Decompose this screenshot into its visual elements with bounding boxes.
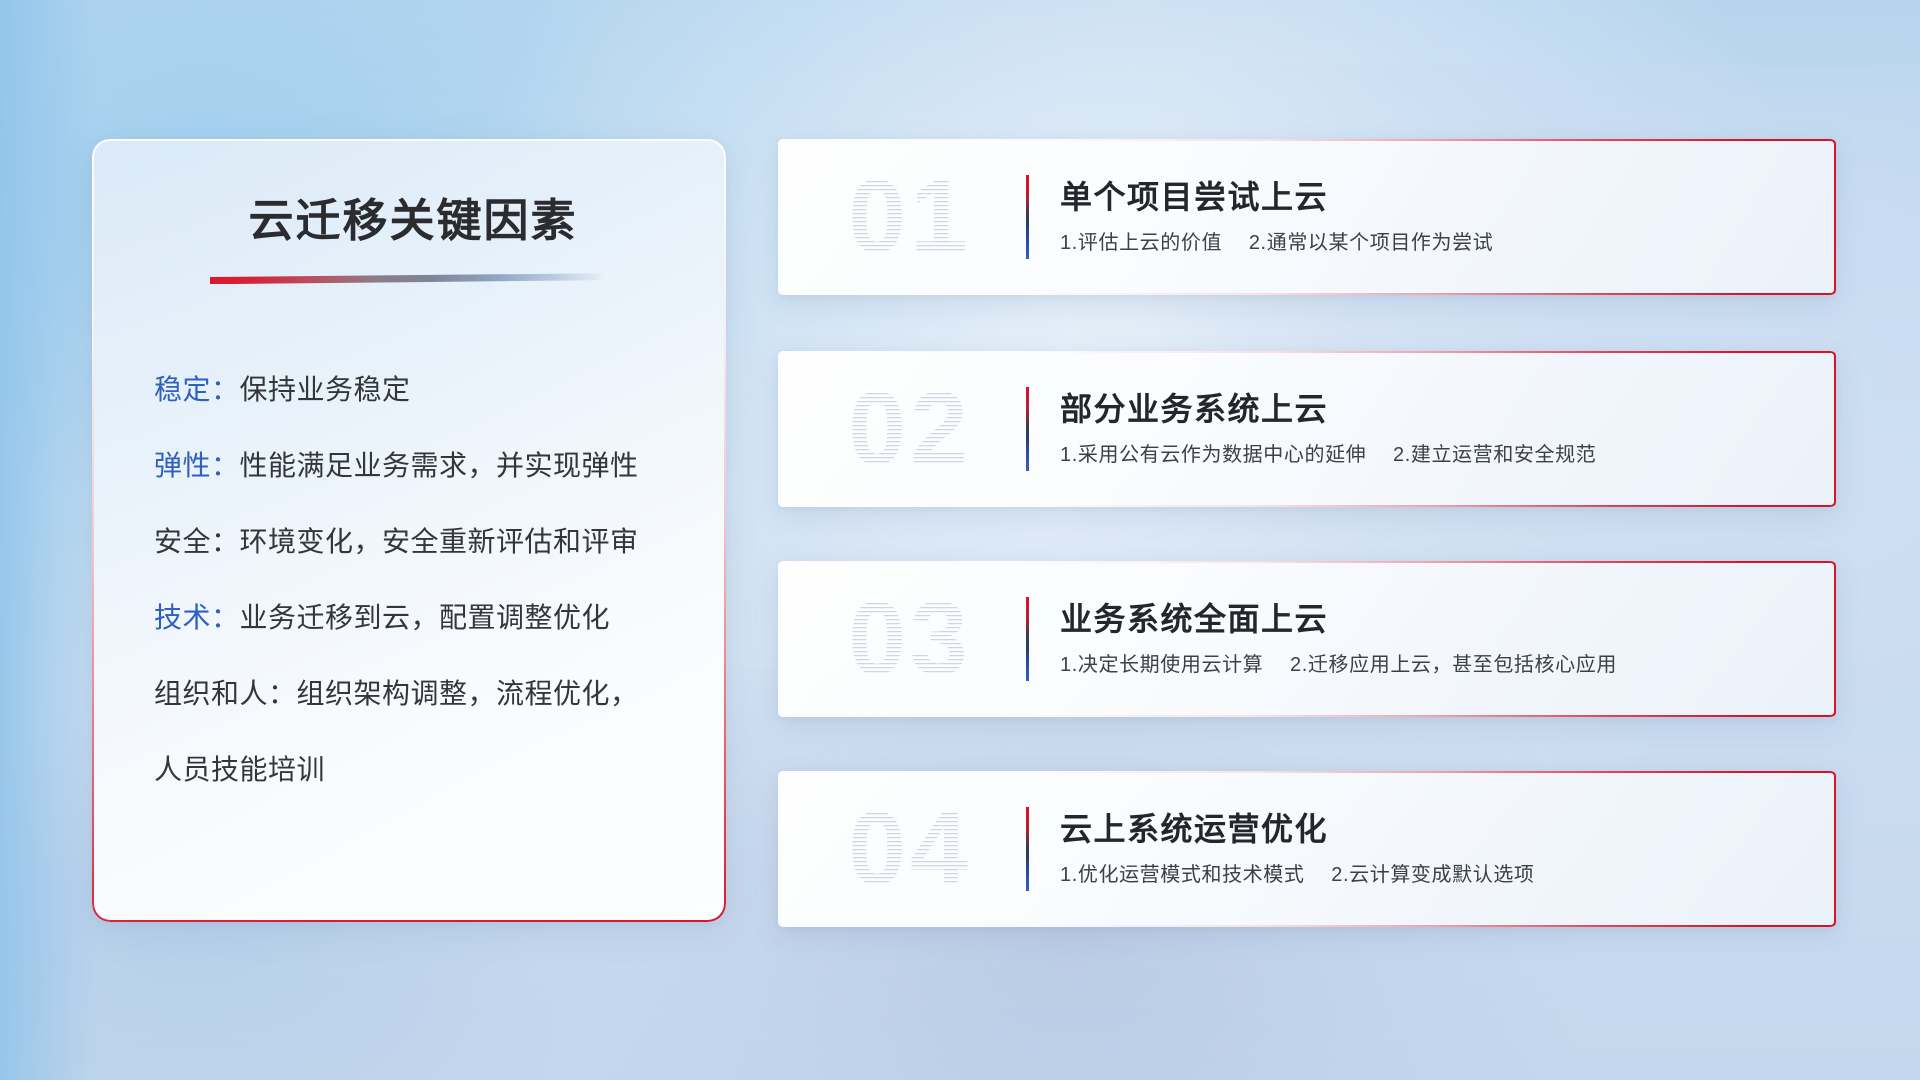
slide-stage: 云迁移关键因素 稳定：保持业务稳定 弹性：性能满足业务需求，并实现弹性 安全：环…	[0, 0, 1920, 1080]
factor-label: 安全：	[154, 526, 240, 557]
factor-value: 保持业务稳定	[240, 374, 411, 405]
factor-value-line-1: 组织架构调整，流程优化，	[297, 678, 639, 709]
stage-divider-bar	[1026, 597, 1029, 681]
stage-number-04: 04	[812, 793, 1008, 905]
stage-card-accent-edge	[1834, 561, 1836, 717]
list-item: 组织和人：组织架构调整，流程优化，人员技能培训	[154, 656, 726, 808]
factor-label: 稳定：	[154, 374, 240, 405]
stage-number-02: 02	[812, 373, 1008, 485]
stage-title: 业务系统全面上云	[1060, 600, 1617, 638]
title-underline-accent	[210, 273, 608, 284]
stage-card-03[interactable]: 03 业务系统全面上云 1.决定长期使用云计算 2.迁移应用上云，甚至包括核心应…	[778, 561, 1836, 717]
stage-card-02[interactable]: 02 部分业务系统上云 1.采用公有云作为数据中心的延伸 2.建立运营和安全规范	[778, 351, 1836, 507]
stage-card-04[interactable]: 04 云上系统运营优化 1.优化运营模式和技术模式 2.云计算变成默认选项	[778, 771, 1836, 927]
stage-subtitle: 1.采用公有云作为数据中心的延伸 2.建立运营和安全规范	[1060, 442, 1596, 468]
stage-subtitle: 1.决定长期使用云计算 2.迁移应用上云，甚至包括核心应用	[1060, 652, 1617, 678]
stage-card-accent-edge	[1834, 771, 1836, 927]
stage-card-text: 部分业务系统上云 1.采用公有云作为数据中心的延伸 2.建立运营和安全规范	[1060, 390, 1596, 468]
stage-card-text: 业务系统全面上云 1.决定长期使用云计算 2.迁移应用上云，甚至包括核心应用	[1060, 600, 1617, 678]
stage-title: 云上系统运营优化	[1060, 810, 1535, 848]
key-factors-panel-content: 云迁移关键因素 稳定：保持业务稳定 弹性：性能满足业务需求，并实现弹性 安全：环…	[92, 139, 726, 808]
stage-card-accent-edge	[1834, 139, 1836, 295]
stage-card-accent-edge	[1834, 351, 1836, 507]
stage-card-text: 单个项目尝试上云 1.评估上云的价值 2.通常以某个项目作为尝试	[1060, 178, 1493, 256]
stage-card-01[interactable]: 01 单个项目尝试上云 1.评估上云的价值 2.通常以某个项目作为尝试	[778, 139, 1836, 295]
factor-label: 组织和人：	[154, 678, 297, 709]
page-title: 云迁移关键因素	[92, 193, 726, 249]
factor-label: 技术：	[154, 602, 240, 633]
stage-card-text: 云上系统运营优化 1.优化运营模式和技术模式 2.云计算变成默认选项	[1060, 810, 1535, 888]
stage-title: 部分业务系统上云	[1060, 390, 1596, 428]
stage-number-03: 03	[812, 583, 1008, 695]
factor-value: 环境变化，安全重新评估和评审	[240, 526, 639, 557]
stage-title: 单个项目尝试上云	[1060, 178, 1493, 216]
stage-divider-bar	[1026, 387, 1029, 471]
list-item: 安全：环境变化，安全重新评估和评审	[154, 504, 726, 580]
stage-divider-bar	[1026, 807, 1029, 891]
factor-value: 业务迁移到云，配置调整优化	[240, 602, 611, 633]
list-item: 弹性：性能满足业务需求，并实现弹性	[154, 428, 726, 504]
factor-label: 弹性：	[154, 450, 240, 481]
factor-value: 性能满足业务需求，并实现弹性	[240, 450, 639, 481]
key-factors-panel: 云迁移关键因素 稳定：保持业务稳定 弹性：性能满足业务需求，并实现弹性 安全：环…	[92, 139, 726, 922]
list-item: 技术：业务迁移到云，配置调整优化	[154, 580, 726, 656]
title-underline-wrap	[92, 273, 726, 284]
stage-subtitle: 1.评估上云的价值 2.通常以某个项目作为尝试	[1060, 230, 1493, 256]
stage-subtitle: 1.优化运营模式和技术模式 2.云计算变成默认选项	[1060, 862, 1535, 888]
key-factors-list: 稳定：保持业务稳定 弹性：性能满足业务需求，并实现弹性 安全：环境变化，安全重新…	[92, 352, 726, 808]
list-item: 稳定：保持业务稳定	[154, 352, 726, 428]
stage-divider-bar	[1026, 175, 1029, 259]
stage-number-01: 01	[812, 161, 1008, 273]
factor-value-line-2: 人员技能培训	[154, 754, 325, 785]
